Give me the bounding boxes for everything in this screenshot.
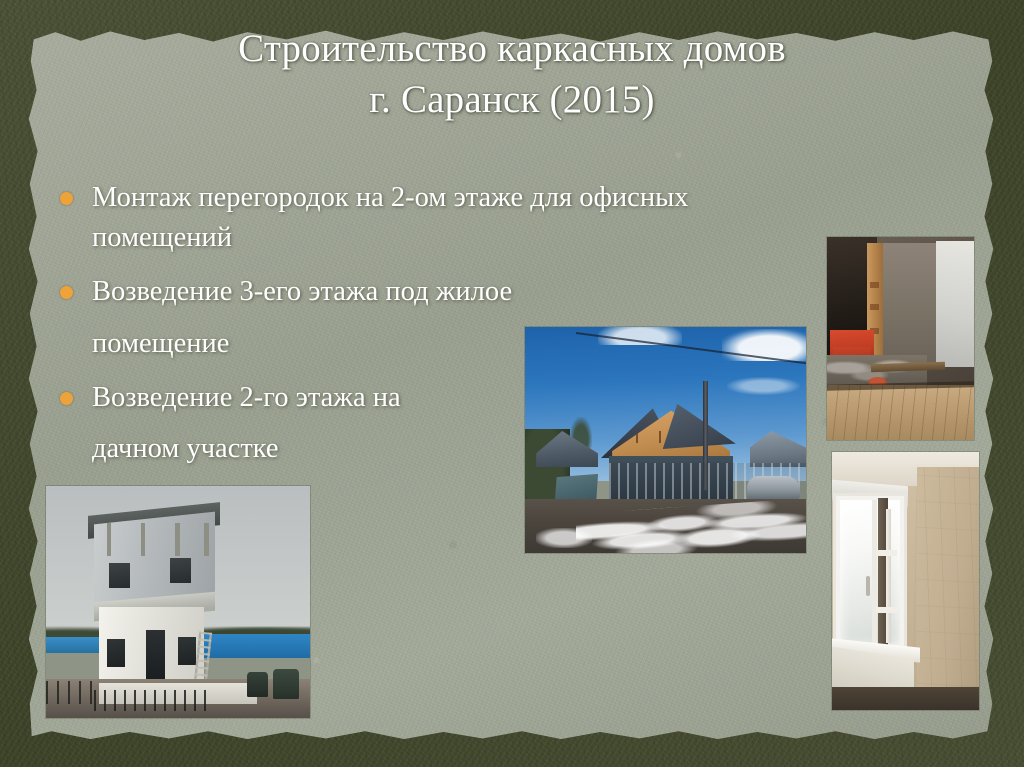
- photo-frame-house: [525, 327, 806, 553]
- photo-white-house-content: [46, 486, 310, 718]
- metal-railing: [94, 690, 210, 711]
- photo-interior-bricks: [827, 237, 974, 440]
- gable-stud: [659, 431, 661, 442]
- list-item: Возведение 2-го этажа на дачном участке: [52, 378, 962, 470]
- bullet-1-line-1: Монтаж перегородок на 2-ом этаже для офи…: [92, 182, 688, 213]
- car: [747, 476, 800, 501]
- slide-title-line-1: Строительство каркасных домов: [60, 24, 964, 75]
- bullet-dot-icon: [60, 286, 73, 299]
- photo-interior-window-content: [832, 452, 979, 710]
- bullet-3-line-1: Возведение 2-го этажа на: [92, 382, 401, 413]
- bullet-2-line-1: Возведение 3-его этажа под жилое: [92, 276, 512, 307]
- upper-window: [109, 563, 130, 589]
- floor-base: [832, 687, 979, 710]
- roof-post: [141, 523, 145, 555]
- slide-title: Строительство каркасных домов г. Саранск…: [60, 24, 964, 125]
- entry-door: [146, 630, 164, 681]
- bullet-list: Монтаж перегородок на 2-ом этаже для офи…: [52, 178, 962, 469]
- bullet-dot-icon: [60, 392, 73, 405]
- post-marking: [870, 282, 879, 288]
- blue-fence: [204, 634, 310, 657]
- presentation-slide: Строительство каркасных домов г. Саранск…: [0, 0, 1024, 767]
- window-trim-bracket: [876, 607, 897, 613]
- cloud: [727, 377, 800, 395]
- window-mullion: [872, 500, 877, 646]
- metal-railing: [46, 681, 94, 704]
- roof-post: [204, 523, 208, 555]
- side-wall: [917, 467, 979, 710]
- barrel: [273, 669, 299, 699]
- window-trim-bracket: [876, 550, 897, 556]
- window-vertical-trim: [886, 509, 890, 643]
- lower-window: [178, 637, 196, 665]
- list-item: Возведение 3-его этажа под жилое помещен…: [52, 272, 962, 364]
- photo-interior-window: [832, 452, 979, 710]
- grey-wall: [883, 243, 942, 369]
- post-marking: [870, 304, 879, 310]
- snow-patch: [536, 528, 592, 548]
- wooden-floor: [827, 385, 974, 440]
- bullet-dot-icon: [60, 192, 73, 205]
- roof-post: [107, 523, 111, 555]
- photo-white-house: [46, 486, 310, 718]
- lower-window: [107, 639, 125, 667]
- window-glass: [840, 500, 900, 646]
- photo-interior-bricks-content: [827, 237, 974, 440]
- upper-window: [170, 558, 191, 584]
- photo-frame-house-content: [525, 327, 806, 553]
- barrel: [247, 672, 268, 698]
- slide-title-line-2: г. Саранск (2015): [60, 75, 964, 126]
- window-handle: [866, 576, 870, 596]
- roof-post: [175, 523, 179, 555]
- light-wall: [936, 241, 974, 367]
- blue-fence: [46, 637, 99, 653]
- list-item: Монтаж перегородок на 2-ом этаже для офи…: [52, 178, 962, 258]
- window-frame: [833, 493, 907, 653]
